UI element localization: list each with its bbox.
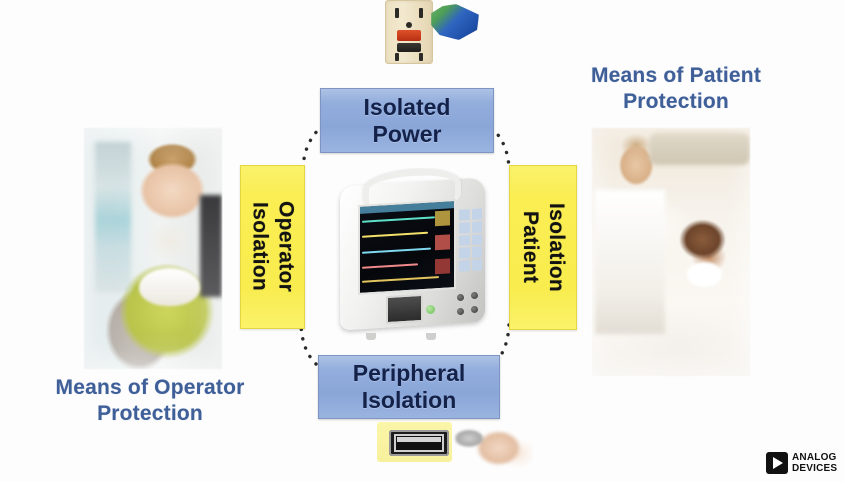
box-peripheral-isolation-line1: Peripheral	[353, 360, 466, 387]
monitor-foot-left	[366, 333, 376, 340]
usb-pad-background	[377, 422, 452, 462]
oxygen-mask	[687, 262, 722, 287]
logo-line1: ANALOG	[792, 452, 837, 463]
monitor-connector-ports	[455, 292, 485, 316]
heading-operator-line1: Means of Operator	[18, 375, 282, 401]
heading-patient-line1: Means of Patient	[560, 63, 792, 89]
analog-devices-logo: ANALOG DEVICES	[766, 452, 837, 474]
patient-monitor-photo	[330, 168, 495, 340]
operator-isolation-word2: Isolation	[248, 202, 272, 291]
nurse-coat	[595, 190, 665, 334]
operator-photo	[84, 128, 222, 369]
usb-port-photo	[373, 420, 533, 478]
medical-equipment-stand	[95, 142, 131, 291]
box-isolated-power-line1: Isolated	[364, 94, 451, 121]
heading-operator-line2: Protection	[18, 401, 282, 427]
monitor-keypad	[459, 209, 482, 272]
logo-line2: DEVICES	[792, 463, 837, 474]
heading-means-of-operator-protection: Means of Operator Protection	[18, 375, 282, 427]
heading-patient-line2: Protection	[560, 89, 792, 115]
arc-top-right	[492, 128, 509, 168]
hand-with-cable	[455, 420, 533, 474]
box-isolated-power-line2: Power	[372, 121, 441, 148]
operator-isolation-label: Isolation Operator	[241, 166, 304, 328]
patient-photo	[592, 128, 750, 376]
box-peripheral-isolation[interactable]: Peripheral Isolation	[318, 355, 500, 419]
patient-isolation-word2: Isolation	[544, 203, 568, 292]
patient-isolation-word1: Patient	[518, 211, 542, 283]
analog-devices-wordmark: ANALOG DEVICES	[792, 452, 837, 474]
arc-top-left	[303, 128, 320, 168]
face-mask	[139, 268, 200, 307]
operator-isolation-word1: Operator	[274, 201, 298, 292]
arc-bottom-left	[301, 325, 316, 364]
patient-isolation-label: Patient Isolation	[510, 166, 576, 329]
chair-backdrop	[200, 195, 222, 296]
monitor-module-slot	[386, 294, 423, 324]
box-operator-isolation[interactable]: Isolation Operator	[240, 165, 305, 329]
play-triangle-icon	[766, 452, 788, 474]
power-plug	[431, 4, 479, 40]
bed-headboard	[649, 133, 750, 165]
box-peripheral-isolation-line2: Isolation	[362, 387, 457, 414]
box-isolated-power[interactable]: Isolated Power	[320, 88, 494, 153]
diagram-canvas: Isolated Power Peripheral Isolation Isol…	[0, 0, 845, 482]
monitor-power-button	[426, 305, 435, 314]
monitor-foot-right	[426, 333, 436, 340]
gfci-outlet-plate	[385, 0, 433, 64]
box-patient-isolation[interactable]: Patient Isolation	[509, 165, 577, 330]
usb-connector-port	[389, 430, 449, 456]
heading-means-of-patient-protection: Means of Patient Protection	[560, 63, 792, 115]
power-outlet-photo	[379, 0, 483, 64]
monitor-screen	[358, 199, 456, 295]
